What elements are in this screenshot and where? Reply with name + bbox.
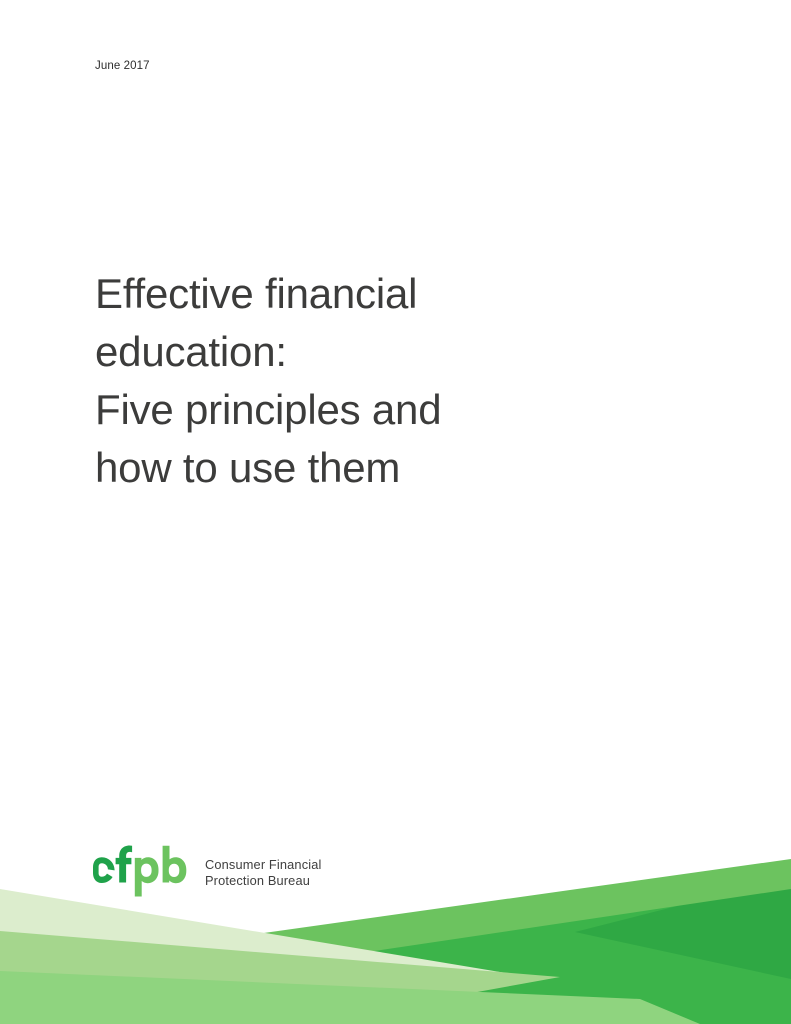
page-title: Effective financial education: Five prin… [95,265,655,497]
footer-chevron-graphic [0,859,791,1024]
publication-date: June 2017 [95,58,150,74]
page-title-line-3: Five principles and [95,381,655,439]
page-title-line-4: how to use them [95,439,655,497]
document-cover-page: June 2017 Effective financial education:… [0,0,791,1024]
page-title-line-2: education: [95,323,655,381]
page-title-line-1: Effective financial [95,265,655,323]
